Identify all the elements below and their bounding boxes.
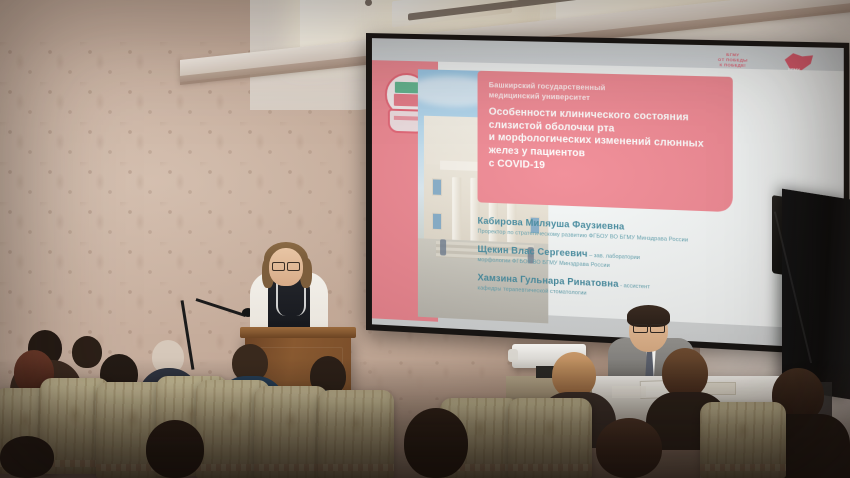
speaker-lanyard	[276, 282, 306, 316]
audience-head	[596, 418, 662, 478]
slide-title-card: Башкирский государственный медицинский у…	[478, 71, 733, 213]
slide-authors: Кабирова Миляуша Фаузиевна Проректор по …	[478, 210, 740, 305]
audience-head	[662, 348, 708, 398]
slogan-badge: БГМУ ОТ ПОБЕДЫ К ПОБЕДЕ!	[694, 49, 771, 71]
audience-head	[72, 336, 102, 368]
audience-head	[404, 408, 468, 478]
podium-top	[240, 327, 356, 338]
slide-title: Особенности клинического состояния слизи…	[489, 107, 721, 179]
slide-organization: Башкирский государственный медицинский у…	[489, 80, 721, 106]
audience-seat	[508, 398, 592, 478]
author-inline-role: - ассистент	[619, 283, 650, 291]
audience-head	[146, 420, 204, 478]
conference-photo: БГМУ ОТ ПОБЕДЫ К ПОБЕДЕ! БГМУ Башкирский…	[0, 0, 850, 478]
audience-seat	[700, 402, 786, 478]
speaker-glasses-icon	[272, 262, 300, 269]
chairperson-glasses-icon	[633, 324, 665, 331]
audience-head	[0, 436, 54, 478]
projector-lens-icon	[508, 349, 518, 362]
author-name: Щекин Влас Сергеевич	[478, 244, 588, 259]
table-document	[612, 386, 646, 398]
author-inline-role: – зав. лаборатории	[588, 253, 640, 261]
audience-seat	[254, 386, 328, 478]
presentation-slide: БГМУ ОТ ПОБЕДЫ К ПОБЕДЕ! БГМУ Башкирский…	[372, 38, 844, 349]
projection-screen: БГМУ ОТ ПОБЕДЫ К ПОБЕДЕ! БГМУ Башкирский…	[366, 33, 849, 356]
slogan-line: К ПОБЕДЕ!	[720, 62, 747, 68]
emblem-label: БГМУ	[788, 67, 800, 73]
projection-surface: БГМУ ОТ ПОБЕДЫ К ПОБЕДЕ! БГМУ Башкирский…	[372, 38, 844, 349]
bsmu-emblem-icon: БГМУ	[783, 49, 816, 73]
audience-seat	[318, 390, 394, 478]
